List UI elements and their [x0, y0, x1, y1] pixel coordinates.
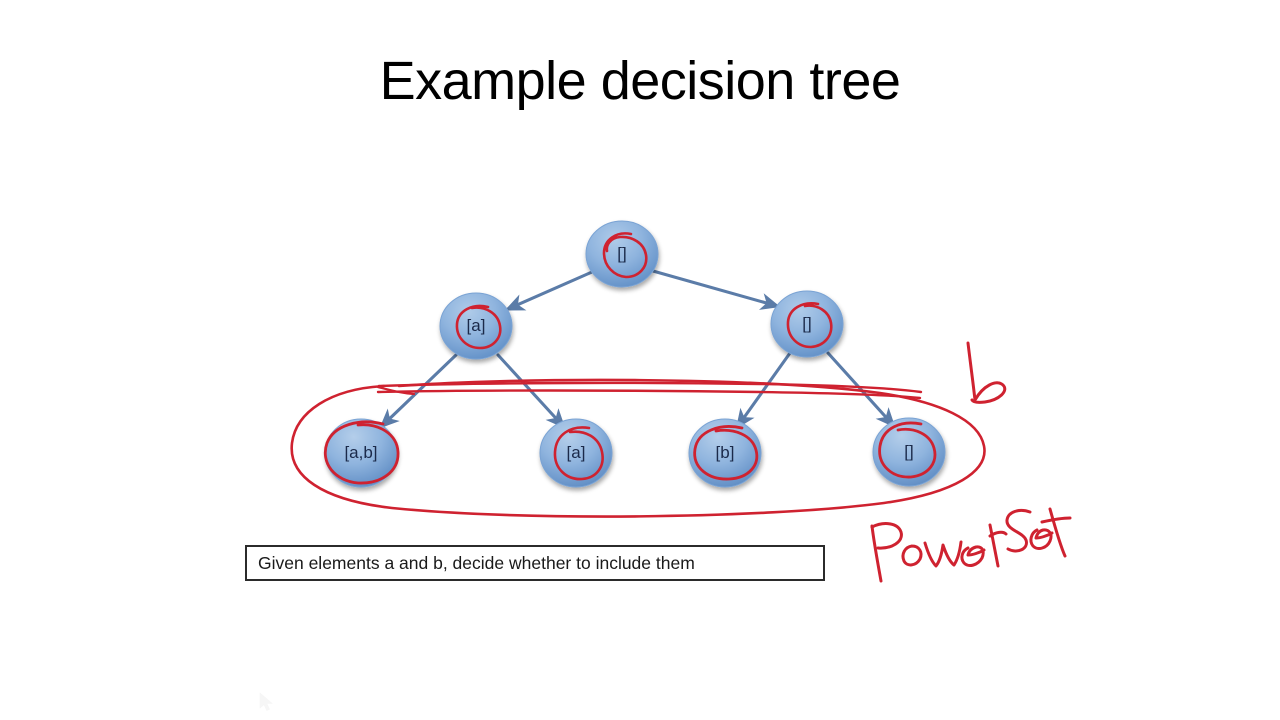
edge-root-to-empty — [653, 271, 777, 306]
tree-nodes — [325, 221, 945, 487]
slide-canvas: Example decision tree — [0, 0, 1280, 720]
caption-text: Given elements a and b, decide whether t… — [247, 553, 695, 574]
ink-handwritten-power-set — [872, 509, 1070, 581]
edge-empty-to-b — [738, 353, 790, 426]
red-ink-annotations — [292, 233, 1070, 581]
ink-handwritten-b — [968, 343, 1005, 402]
ink-strike-line-bottom — [378, 391, 920, 399]
edge-root-to-a — [508, 272, 592, 309]
caption-box: Given elements a and b, decide whether t… — [245, 545, 825, 581]
cursor-icon — [259, 692, 277, 712]
decision-tree-diagram — [0, 0, 1280, 720]
